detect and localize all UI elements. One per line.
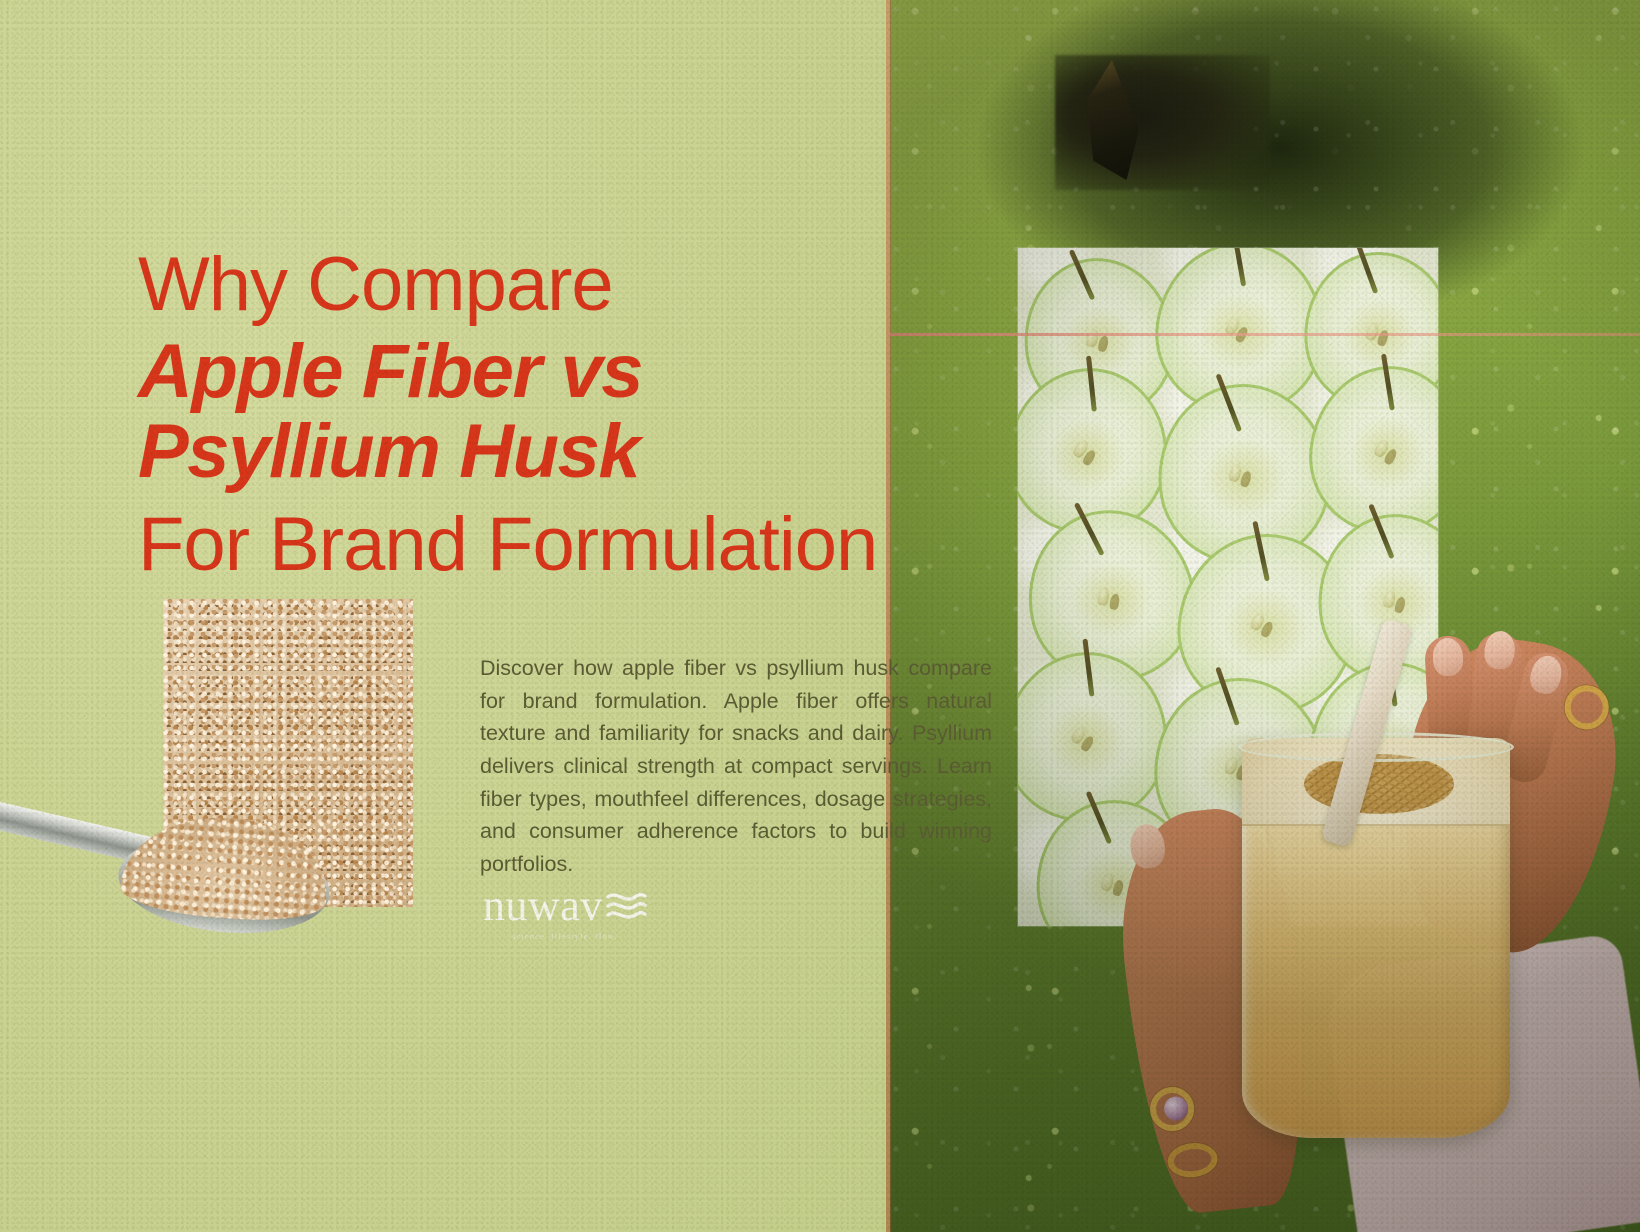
headline-block: Why Compare Apple Fiber vs Psyllium Husk… [138, 248, 998, 583]
hands-smoothie-photo [1090, 600, 1640, 1232]
headline-line-2: Apple Fiber vs [138, 332, 998, 413]
fingernail [1128, 823, 1166, 870]
spoon-with-powder [0, 800, 340, 930]
toasted-fiber-topping [1304, 754, 1454, 814]
logo-lockup: nuwav [483, 884, 647, 928]
vertical-collage-seam [886, 0, 891, 1232]
fingernail [1483, 630, 1517, 671]
headline-line-3: Psyllium Husk [138, 412, 998, 493]
wave-mark-icon [605, 886, 647, 926]
logo-wordmark: nuwav [483, 884, 603, 928]
headline-line-1: Why Compare [138, 248, 998, 322]
body-paragraph: Discover how apple fiber vs psyllium hus… [480, 652, 992, 881]
fingernail [1432, 637, 1464, 677]
headline-line-4: For Brand Formulation [138, 507, 998, 583]
smoothie-glass [1242, 738, 1510, 1138]
poster-canvas: Why Compare Apple Fiber vs Psyllium Husk… [0, 0, 1640, 1232]
apple-blemish-shadow [1055, 55, 1270, 190]
gold-ring [1562, 682, 1612, 732]
left-olive-panel [0, 0, 890, 1232]
gold-ring [1166, 1141, 1219, 1180]
logo-tagline: science. lifestyle. flow. [512, 931, 618, 941]
horizontal-collage-seam [890, 333, 1640, 336]
fingernail [1527, 653, 1565, 697]
brand-logo[interactable]: nuwav science. lifestyle. flow. [483, 884, 647, 941]
